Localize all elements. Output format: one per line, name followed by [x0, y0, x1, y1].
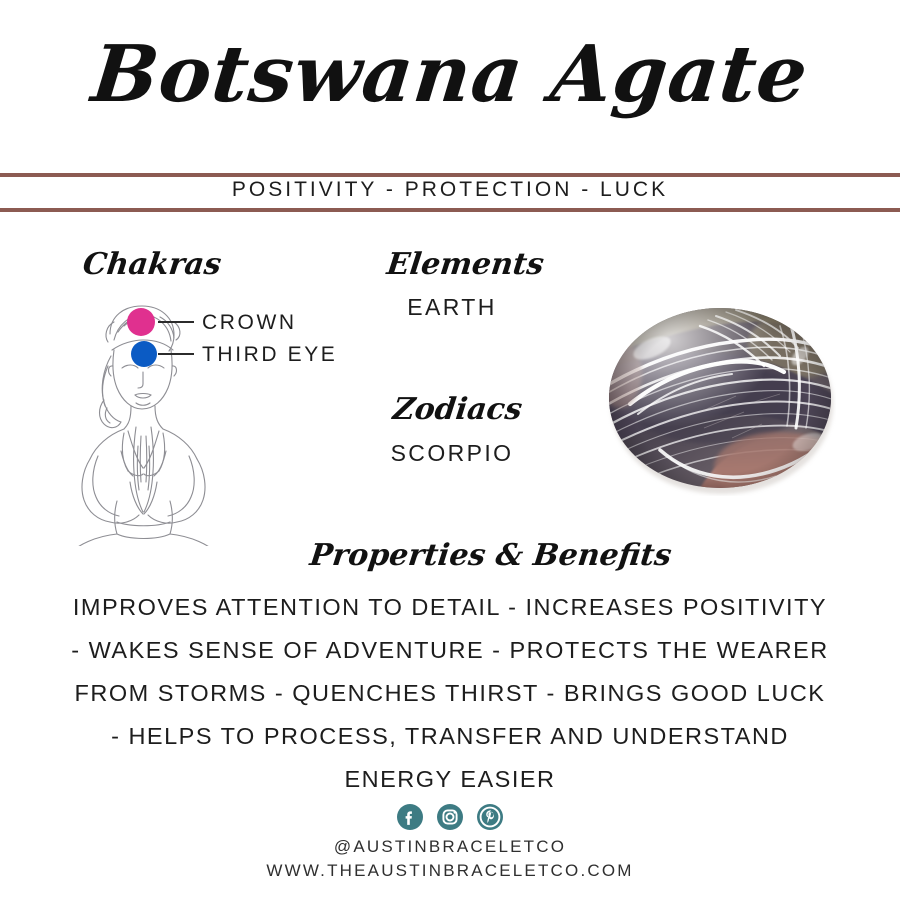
properties-line: - HELPS TO PROCESS, TRANSFER AND UNDERST…	[20, 715, 880, 758]
instagram-handle[interactable]: @AUSTINBRACELETCO	[0, 835, 900, 859]
properties-line: ENERGY EASIER	[20, 758, 880, 801]
chakra-dot-third-eye	[131, 341, 157, 367]
properties-line: - WAKES SENSE OF ADVENTURE - PROTECTS TH…	[20, 629, 880, 672]
pinterest-icon[interactable]	[476, 803, 504, 831]
social-icons	[0, 803, 900, 831]
chakras-heading: Chakras	[81, 247, 223, 282]
crystal-info-card: Botswana Agate POSITIVITY - PROTECTION -…	[0, 0, 900, 900]
properties-heading: Properties & Benefits	[308, 538, 674, 573]
chakra-leader-crown	[158, 321, 194, 323]
chakra-label-third-eye: THIRD EYE	[202, 343, 337, 367]
zodiacs-heading: Zodiacs	[391, 392, 524, 427]
footer: @AUSTINBRACELETCO WWW.THEAUSTINBRACELETC…	[0, 835, 900, 883]
elements-heading: Elements	[385, 247, 546, 282]
elements-value: EARTH	[352, 294, 552, 321]
chakra-leader-third-eye	[158, 353, 194, 355]
instagram-icon[interactable]	[436, 803, 464, 831]
facebook-icon[interactable]	[396, 803, 424, 831]
zodiacs-value: SCORPIO	[352, 440, 552, 467]
properties-line: FROM STORMS - QUENCHES THIRST - BRINGS G…	[20, 672, 880, 715]
website-url[interactable]: WWW.THEAUSTINBRACELETCO.COM	[0, 859, 900, 883]
divider-line-bottom	[0, 208, 900, 212]
subtitle-keywords: POSITIVITY - PROTECTION - LUCK	[0, 178, 900, 202]
botswana-agate-stone-image	[604, 300, 836, 496]
page-title: Botswana Agate	[0, 36, 900, 114]
chakra-dot-crown	[127, 308, 155, 336]
properties-line: IMPROVES ATTENTION TO DETAIL - INCREASES…	[20, 586, 880, 629]
divider-line-top	[0, 173, 900, 177]
chakra-label-crown: CROWN	[202, 311, 297, 335]
properties-body: IMPROVES ATTENTION TO DETAIL - INCREASES…	[20, 586, 880, 801]
